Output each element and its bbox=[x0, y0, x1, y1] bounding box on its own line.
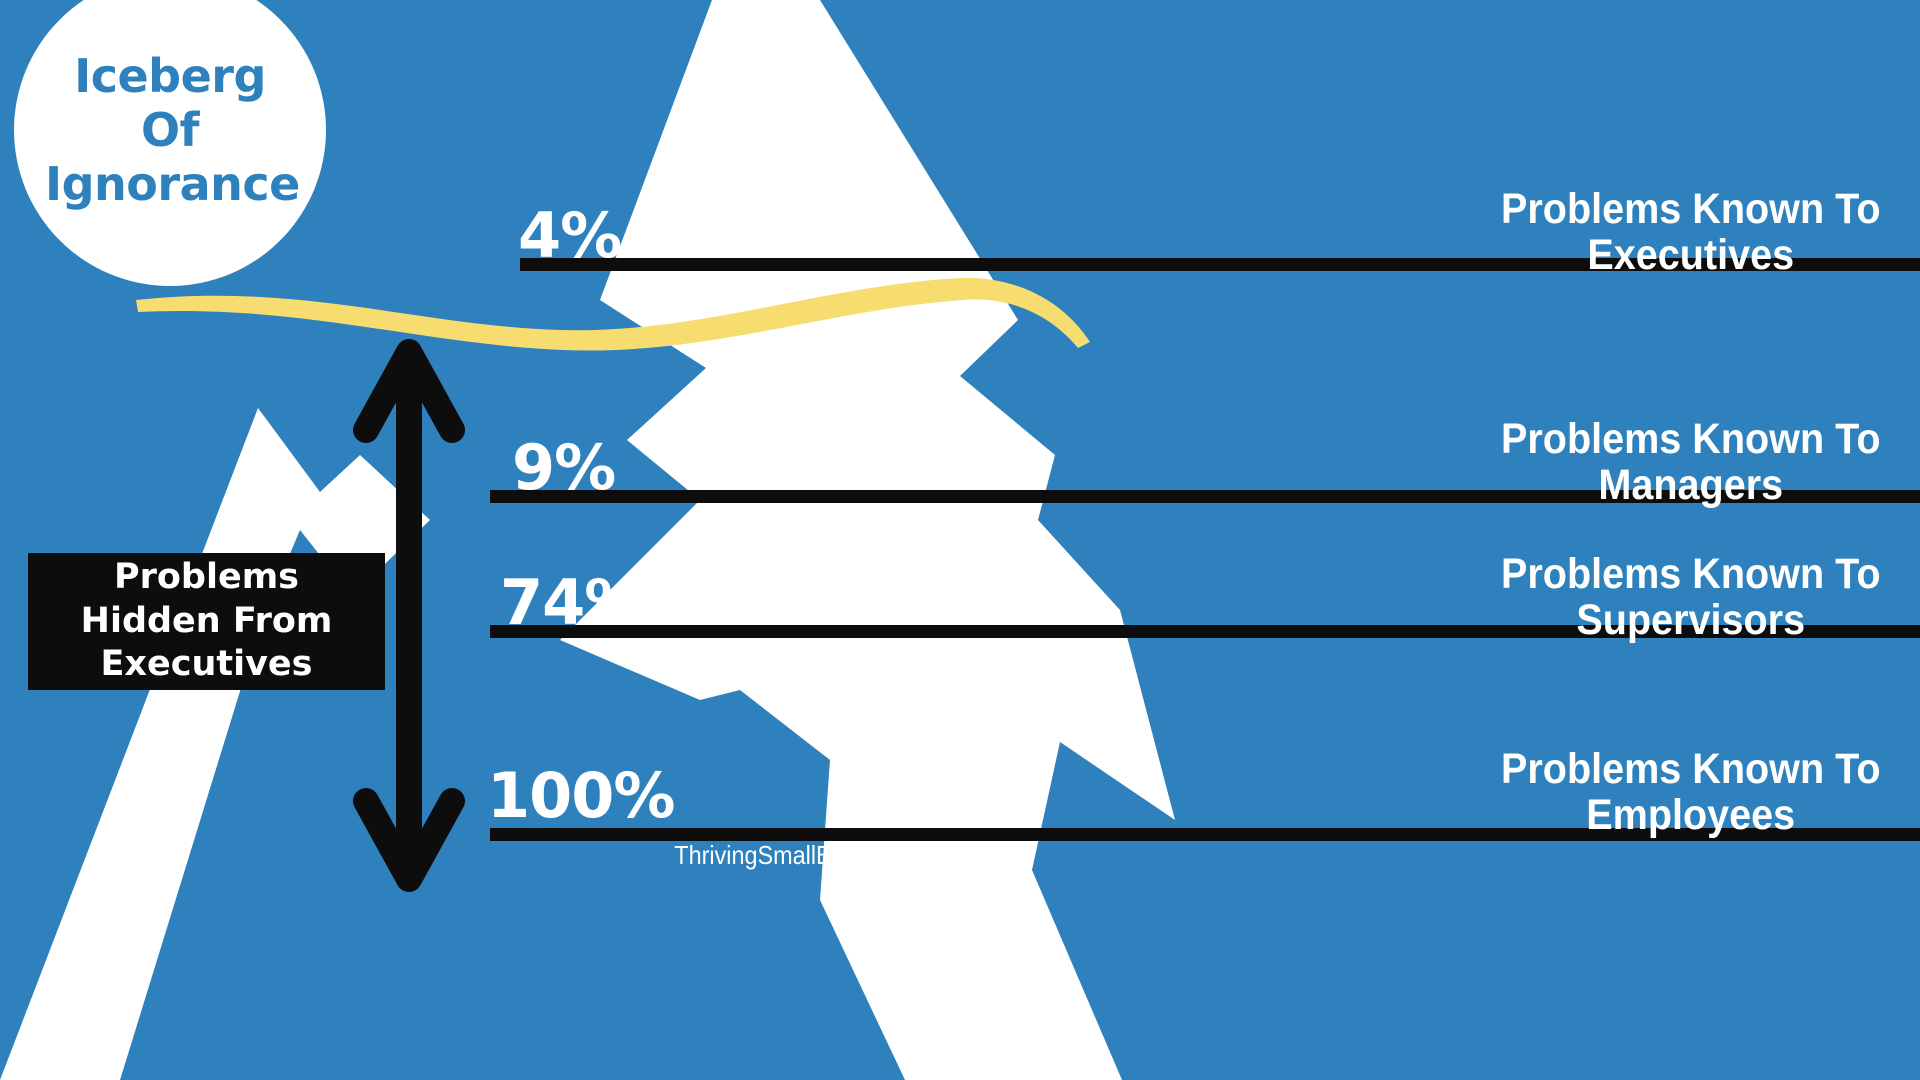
problems-hidden-label: Problems Hidden From Executives bbox=[42, 556, 372, 687]
label-executives: Problems Known To Executives bbox=[1501, 186, 1881, 279]
waterline-stroke bbox=[136, 278, 1090, 351]
title-badge: Iceberg Of Ignorance bbox=[14, 0, 326, 286]
infographic-canvas: Iceberg Of Ignorance Problems Hidden Fro… bbox=[0, 0, 1920, 1080]
source-credit: ThrivingSmallBusiness.com bbox=[82, 840, 1554, 871]
page-title: Iceberg Of Ignorance bbox=[45, 49, 295, 212]
label-employees: Problems Known To Employees bbox=[1501, 746, 1881, 839]
percent-employees: 100% bbox=[487, 765, 675, 827]
label-managers: Problems Known To Managers bbox=[1501, 416, 1881, 509]
label-supervisors: Problems Known To Supervisors bbox=[1501, 551, 1881, 644]
problems-hidden-callout: Problems Hidden From Executives bbox=[28, 553, 385, 690]
